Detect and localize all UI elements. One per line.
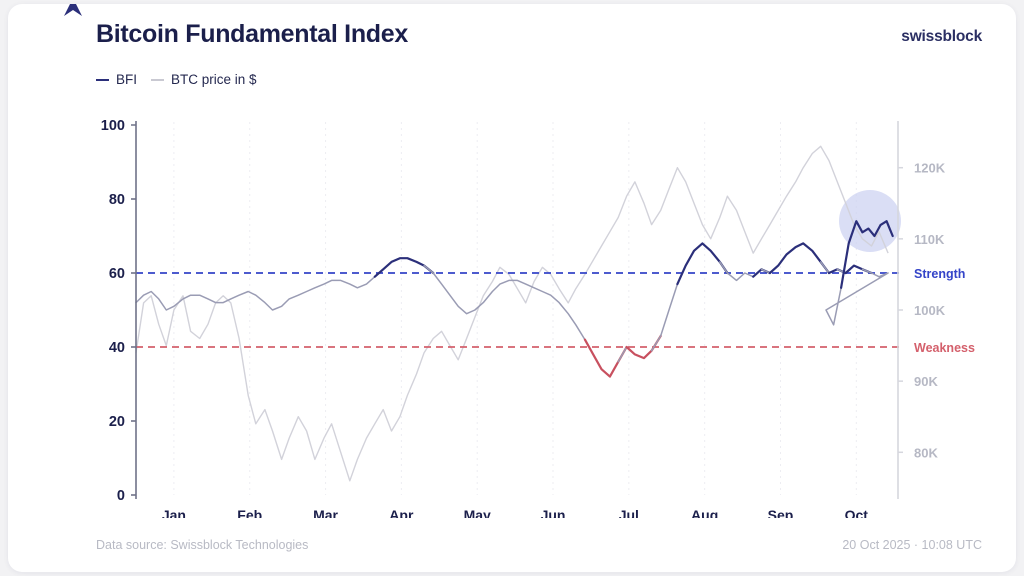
weakness-threshold-label: Weakness [914, 341, 975, 355]
strength-threshold-label: Strength [914, 267, 965, 281]
btc-price-line [136, 146, 888, 481]
chart-card: Bitcoin Fundamental Index swissblock BFI… [8, 4, 1016, 572]
y-axis-tick-label: 40 [109, 340, 125, 356]
chart-axes [131, 121, 903, 499]
legend-item-btc[interactable]: BTC price in $ [151, 72, 257, 87]
y-axis-tick-label: 20 [109, 414, 125, 430]
y2-axis-tick-label: 90K [914, 374, 938, 389]
y-axis-tick-label: 80 [109, 192, 125, 208]
threshold-lines [136, 273, 904, 347]
data-source-label: Data source: Swissblock Technologies [96, 538, 308, 552]
chart-legend: BFI BTC price in $ [96, 72, 257, 87]
x-axis-tick-label: Jan [162, 507, 186, 518]
y-axis-tick-label: 0 [117, 488, 125, 504]
y2-axis-tick-label: 100K [914, 303, 946, 318]
chart-plot-area: 02040608010080K90K100K110K120KStrengthWe… [8, 108, 1016, 518]
chart-canvas: 02040608010080K90K100K110K120KStrengthWe… [8, 108, 1016, 518]
x-axis-tick-label: Feb [237, 507, 262, 518]
x-axis-tick-label: Aug [691, 507, 718, 518]
x-axis-tick-label: Jun [541, 507, 566, 518]
timestamp-label: 20 Oct 2025 · 10:08 UTC [842, 538, 982, 552]
y2-axis-tick-label: 80K [914, 445, 938, 460]
y-axis-tick-label: 100 [101, 118, 125, 134]
x-axis-tick-label: Sep [768, 507, 794, 518]
legend-item-label: BFI [116, 72, 137, 87]
x-axis-tick-label: May [464, 507, 491, 518]
y2-axis-tick-label: 120K [914, 161, 946, 176]
x-axis-tick-label: Jul [619, 507, 639, 518]
brand-logo: swissblock [901, 28, 982, 46]
y2-axis-tick-label: 110K [914, 232, 945, 247]
x-axis-tick-label: Oct [845, 507, 869, 518]
legend-item-label: BTC price in $ [171, 72, 257, 87]
dash-icon [96, 79, 109, 81]
y-axis-tick-label: 60 [109, 266, 125, 282]
axis-tick-labels: 02040608010080K90K100K110K120KStrengthWe… [101, 118, 975, 518]
page-title: Bitcoin Fundamental Index [96, 20, 408, 49]
legend-item-bfi[interactable]: BFI [96, 72, 137, 87]
x-axis-tick-label: Apr [389, 507, 414, 518]
triangle-arrow-icon [60, 4, 86, 20]
dash-icon [151, 79, 164, 81]
bfi-line [136, 221, 893, 376]
x-axis-tick-label: Mar [313, 507, 338, 518]
